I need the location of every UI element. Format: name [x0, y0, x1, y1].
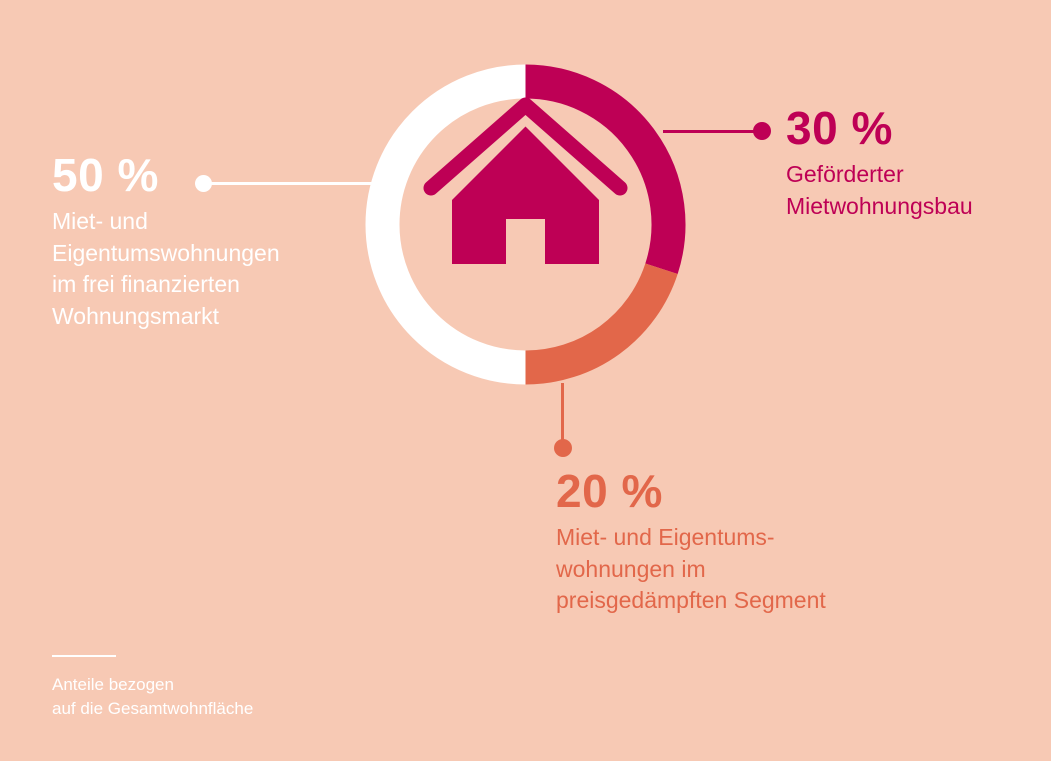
callout-right-line-2: Mietwohnungsbau	[786, 191, 1036, 223]
callout-left: 50 % Miet- und Eigentumswohnungen im fre…	[52, 152, 382, 332]
callout-bottom-percent: 20 %	[556, 468, 886, 514]
callout-left-line-2: Eigentumswohnungen	[52, 238, 382, 270]
connector-line-right	[663, 130, 765, 133]
callout-left-description: Miet- und Eigentumswohnungen im frei fin…	[52, 206, 382, 332]
callout-bottom-description: Miet- und Eigentums- wohnungen im preisg…	[556, 522, 886, 617]
connector-dot-right	[753, 122, 771, 140]
callout-right: 30 % Geförderter Mietwohnungsbau	[786, 105, 1036, 222]
donut-segment-preisgedaempft[interactable]	[526, 269, 662, 368]
callout-right-percent: 30 %	[786, 105, 1036, 151]
infographic-root: 50 % Miet- und Eigentumswohnungen im fre…	[0, 0, 1051, 761]
callout-left-line-4: Wohnungsmarkt	[52, 301, 382, 333]
callout-bottom: 20 % Miet- und Eigentums- wohnungen im p…	[556, 468, 886, 617]
callout-left-line-1: Miet- und	[52, 206, 382, 238]
callout-right-description: Geförderter Mietwohnungsbau	[786, 159, 1036, 222]
callout-left-line-3: im frei finanzierten	[52, 269, 382, 301]
callout-left-percent: 50 %	[52, 152, 382, 198]
footnote-text: Anteile bezogen auf die Gesamtwohnfläche	[52, 673, 253, 721]
callout-bottom-line-3: preisgedämpften Segment	[556, 585, 886, 617]
house-icon	[431, 105, 620, 264]
callout-right-line-1: Geförderter	[786, 159, 1036, 191]
callout-bottom-line-1: Miet- und Eigentums-	[556, 522, 886, 554]
footnote-line-2: auf die Gesamtwohnfläche	[52, 697, 253, 721]
connector-line-bottom	[561, 383, 564, 447]
connector-dot-bottom	[554, 439, 572, 457]
donut-chart-svg	[365, 64, 686, 385]
footnote-line-1: Anteile bezogen	[52, 673, 253, 697]
callout-bottom-line-2: wohnungen im	[556, 554, 886, 586]
donut-chart	[365, 64, 686, 385]
footnote-divider	[52, 655, 116, 657]
footnote: Anteile bezogen auf die Gesamtwohnfläche	[52, 655, 253, 721]
